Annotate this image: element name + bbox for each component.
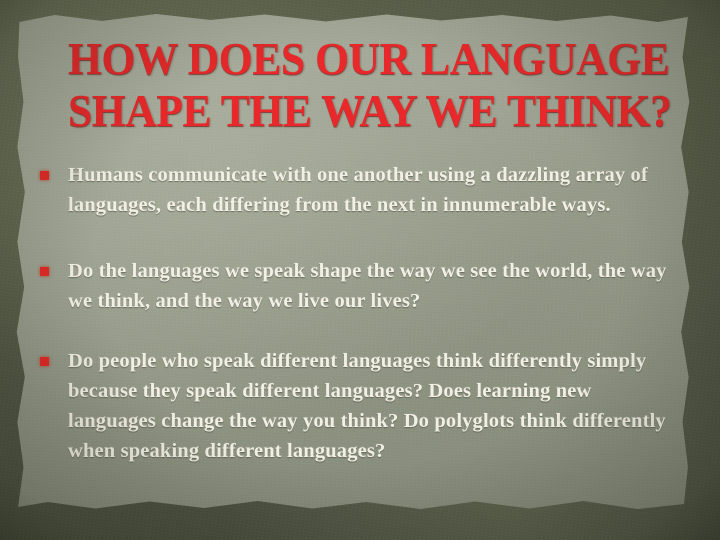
bullet-text-3: Do people who speak different languages … bbox=[68, 346, 668, 466]
list-item: Do the languages we speak shape the way … bbox=[40, 256, 680, 316]
red-square-bullet-icon bbox=[40, 267, 49, 276]
red-square-bullet-icon bbox=[40, 171, 49, 180]
bullet-text-1: Humans communicate with one another usin… bbox=[68, 160, 668, 220]
slide-content: HOW DOES OUR LANGUAGE SHAPE THE WAY WE T… bbox=[0, 0, 720, 540]
list-item: Do people who speak different languages … bbox=[40, 346, 680, 466]
presentation-slide: HOW DOES OUR LANGUAGE SHAPE THE WAY WE T… bbox=[0, 0, 720, 540]
slide-title: HOW DOES OUR LANGUAGE SHAPE THE WAY WE T… bbox=[68, 33, 650, 137]
bullet-list: Humans communicate with one another usin… bbox=[40, 160, 680, 488]
slide-title-line-1: HOW DOES OUR LANGUAGE bbox=[68, 33, 650, 85]
slide-title-line-2: SHAPE THE WAY WE THINK? bbox=[68, 85, 650, 137]
list-item: Humans communicate with one another usin… bbox=[40, 160, 680, 220]
red-square-bullet-icon bbox=[40, 357, 49, 366]
bullet-text-2: Do the languages we speak shape the way … bbox=[68, 256, 680, 316]
